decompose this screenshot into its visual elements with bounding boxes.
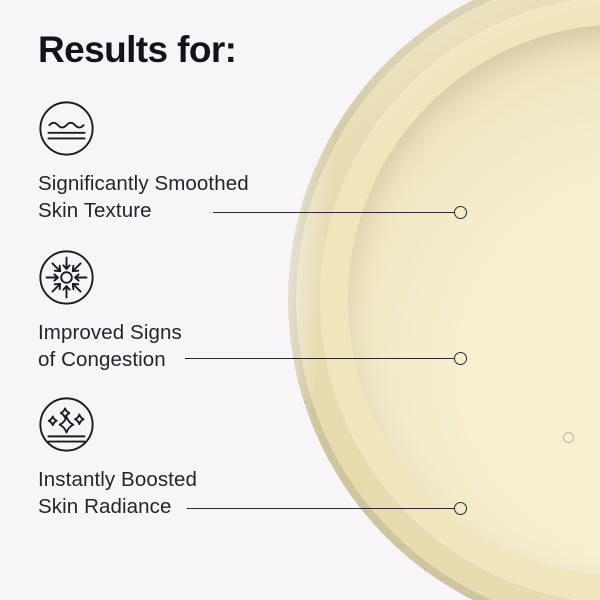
skin-texture-waves-icon (38, 100, 95, 157)
leader-line-radiance (187, 508, 455, 509)
radiance-sparkles-icon (38, 396, 95, 453)
leader-endpoint-radiance (454, 502, 467, 515)
leader-endpoint-congestion (454, 352, 467, 365)
leader-endpoint-skin-texture (454, 206, 467, 219)
benefit-label: Instantly Boosted Skin Radiance (38, 466, 197, 521)
benefit-item-skin-texture: Significantly Smoothed Skin Texture (38, 100, 249, 225)
product-photo (288, 0, 600, 600)
leader-line-skin-texture (213, 212, 455, 213)
benefit-item-radiance: Instantly Boosted Skin Radiance (38, 396, 197, 521)
pore-congestion-arrows-icon (38, 249, 95, 306)
photo-edge-fade (288, 0, 600, 600)
benefit-label: Improved Signs of Congestion (38, 319, 182, 374)
benefit-label: Significantly Smoothed Skin Texture (38, 170, 249, 225)
results-infographic: Results for: Significantly Smoothed Skin… (0, 0, 600, 600)
page-title: Results for: (38, 30, 236, 71)
benefit-item-congestion: Improved Signs of Congestion (38, 249, 182, 374)
leader-line-congestion (185, 358, 455, 359)
